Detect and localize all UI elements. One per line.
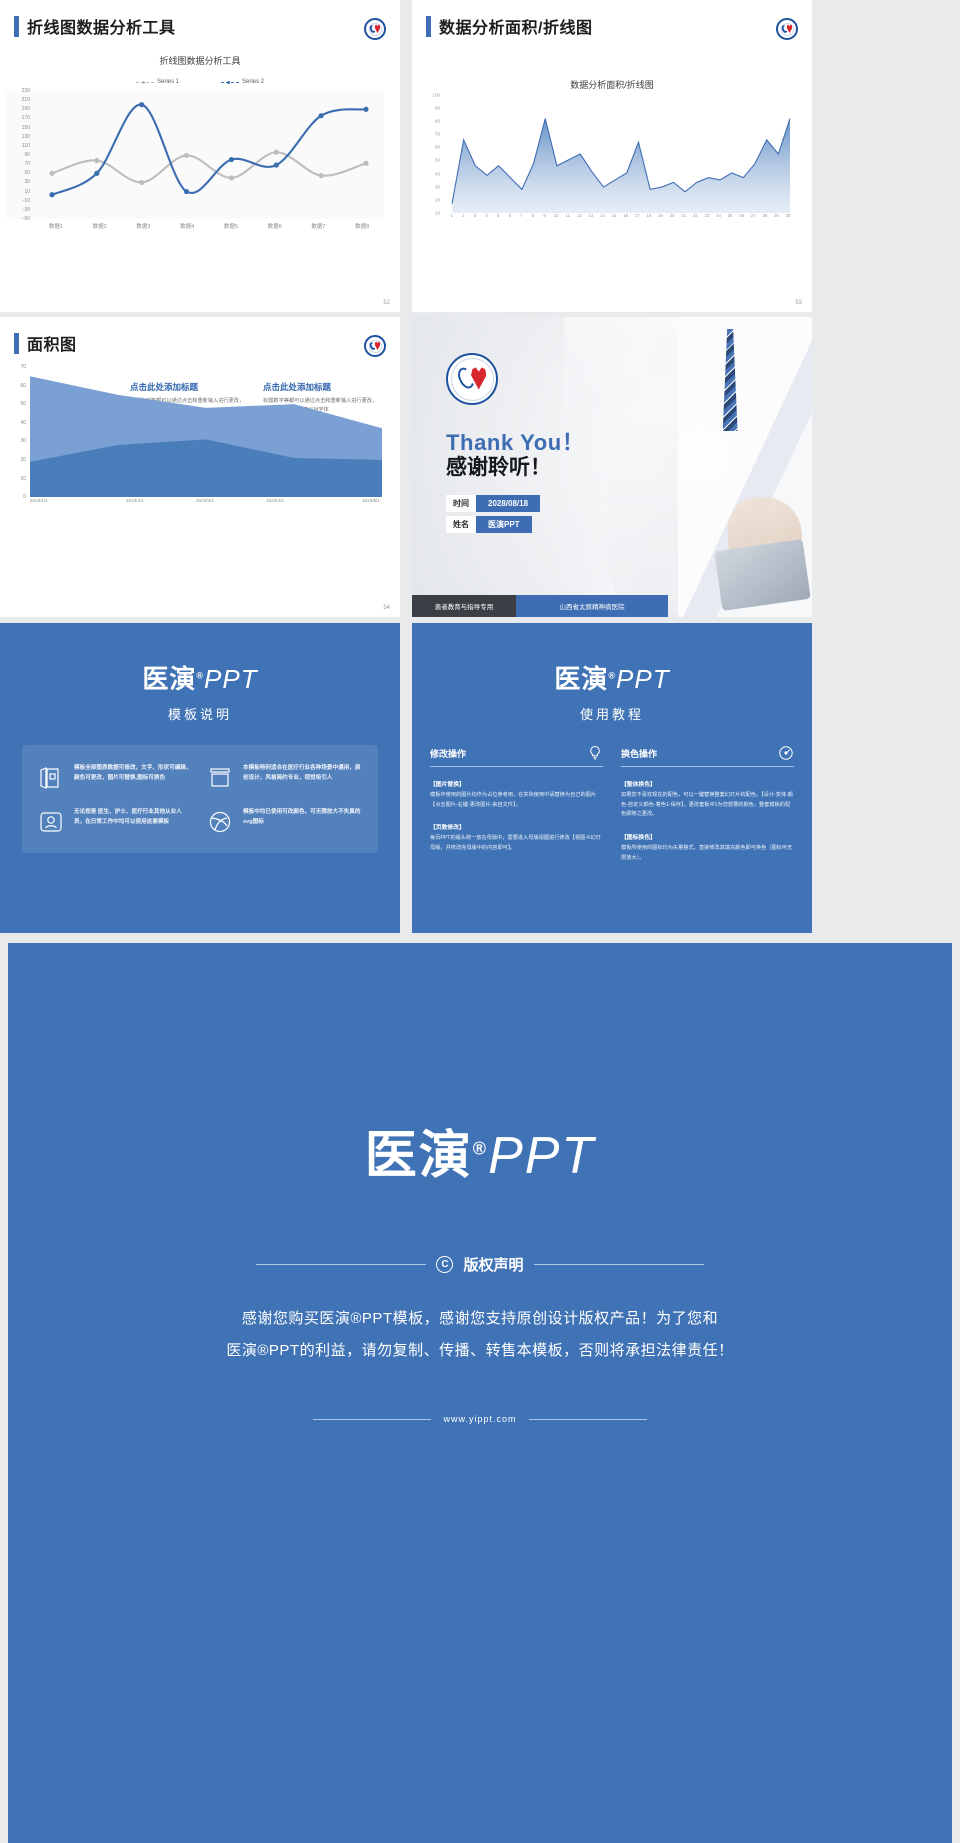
feature-text: 模板中均已使用可改颜色，可无限放大不失真的svg图标 bbox=[243, 807, 362, 835]
footer-label-left: 患者教育与指导专用 bbox=[412, 595, 516, 617]
website-url[interactable]: www.yippt.com bbox=[443, 1414, 516, 1424]
slide-area-chart[interactable]: 面积图 点击此处添加标题 标题数字等都可以通过点击和重新输入进行更改，顶部“开始… bbox=[0, 317, 400, 617]
x-axis-tick: 12 bbox=[574, 213, 586, 218]
legend-swatch-icon bbox=[136, 82, 154, 83]
x-axis-tick: 14 bbox=[597, 213, 609, 218]
y-axis-ticks: 70 60 50 40 30 20 10 0 bbox=[4, 367, 28, 497]
area-chart-plot-area: 70 60 50 40 30 20 10 0 2023/1/1 2023/2/1… bbox=[4, 367, 380, 503]
item-body: 模板所使用的图标均为矢量格式，直接修改其填充颜色即可换色（图标可无限放大）。 bbox=[621, 844, 794, 863]
meta-key: 时间 bbox=[446, 495, 476, 512]
left-margin bbox=[0, 943, 8, 1843]
legend-swatch-icon bbox=[221, 82, 239, 83]
x-axis-tick: 3 bbox=[469, 213, 481, 218]
x-axis-tick: 20 bbox=[666, 213, 678, 218]
divider bbox=[256, 1264, 426, 1265]
palette-icon bbox=[778, 745, 794, 761]
box-icon bbox=[207, 765, 233, 791]
x-axis-tick: 30 bbox=[782, 213, 794, 218]
copyright-title: 版权声明 bbox=[463, 1254, 523, 1275]
line-chart-svg bbox=[34, 91, 384, 219]
feature-list: 模板全部图表数据可修改，文字、形状可编辑，颜色可更改，图片可替换,图标可换色 本… bbox=[22, 745, 378, 853]
hospital-logo-icon bbox=[446, 353, 498, 405]
hospital-logo-icon bbox=[364, 18, 386, 40]
copyright-heading: C 版权声明 bbox=[0, 1254, 960, 1275]
area-line-plot-area: 100 90 80 70 60 50 40 30 20 10 123456789… bbox=[420, 95, 794, 218]
right-margin bbox=[952, 943, 960, 1843]
brand-logo-text: 医演®PPT bbox=[412, 659, 812, 696]
meta-key: 姓名 bbox=[446, 516, 476, 533]
meta-row-name: 姓名 医演PPT bbox=[446, 516, 540, 533]
legend-item-series-1: Series 1 bbox=[136, 79, 179, 85]
tutorial-column-modify: 修改操作 【图片替换】 模板中使用的图片均作为占位参考用，在实际使用中请替换为自… bbox=[430, 745, 603, 863]
x-axis-tick: 6 bbox=[504, 213, 516, 218]
footer-spacer bbox=[668, 595, 812, 617]
slides-row-2: 面积图 点击此处添加标题 标题数字等都可以通过点击和重新输入进行更改，顶部“开始… bbox=[0, 317, 960, 617]
tutorial-item: 【整体换色】 如果您不喜欢现在的配色，可以一键替换整套幻灯片的配色。【设计-变体… bbox=[621, 779, 794, 820]
x-axis-tick: 27 bbox=[747, 213, 759, 218]
divider bbox=[313, 1419, 431, 1420]
copyright-icon: C bbox=[436, 1256, 453, 1273]
website-row: www.yippt.com bbox=[0, 1414, 960, 1424]
slide-number: 52 bbox=[383, 300, 390, 306]
slide-line-chart[interactable]: 折线图数据分析工具 折线图数据分析工具 Series 1 Series 2 23… bbox=[0, 0, 400, 312]
x-axis-tick: 24 bbox=[713, 213, 725, 218]
chart-legend: Series 1 Series 2 bbox=[0, 79, 400, 85]
x-axis-tick: 19 bbox=[655, 213, 667, 218]
hospital-logo-icon bbox=[364, 335, 386, 357]
x-axis-tick: 15 bbox=[608, 213, 620, 218]
meta-value: 2028/08/18 bbox=[476, 495, 540, 512]
slide-header: 数据分析面积/折线图 bbox=[412, 0, 812, 38]
page-title: 折线图数据分析工具 bbox=[27, 14, 176, 38]
divider bbox=[534, 1264, 704, 1265]
legend-item-series-2: Series 2 bbox=[221, 79, 264, 85]
x-axis-tick: 28 bbox=[759, 213, 771, 218]
x-axis-tick: 10 bbox=[550, 213, 562, 218]
user-icon bbox=[38, 809, 64, 835]
item-title: 【页数修改】 bbox=[430, 822, 603, 831]
meta-value: 医演PPT bbox=[476, 516, 532, 533]
x-axis-tick: 22 bbox=[689, 213, 701, 218]
hospital-logo-icon bbox=[776, 18, 798, 40]
slides-row-1: 折线图数据分析工具 折线图数据分析工具 Series 1 Series 2 23… bbox=[0, 0, 960, 312]
section-subtitle: 模板说明 bbox=[0, 704, 400, 723]
copyright-line-2: 医演®PPT的利益，请勿复制、传播、转售本模板，否则将承担法律责任！ bbox=[0, 1335, 960, 1367]
slides-row-3: 医演®PPT 模板说明 模板全部图表数据可修改，文字、形状可编辑，颜色可更改，图… bbox=[0, 623, 960, 933]
x-axis-tick: 21 bbox=[678, 213, 690, 218]
feature-item: 模板中均已使用可改颜色，可无限放大不失真的svg图标 bbox=[207, 807, 362, 835]
x-axis-tick: 4 bbox=[481, 213, 493, 218]
item-title: 【图片替换】 bbox=[430, 779, 603, 788]
copyright-body: 感谢您购买医演®PPT模板，感谢您支持原创设计版权产品！为了您和 医演®PPT的… bbox=[0, 1303, 960, 1366]
chart-title: 数据分析面积/折线图 bbox=[412, 78, 812, 91]
title-accent-bar bbox=[14, 16, 19, 37]
copyright-line-1: 感谢您购买医演®PPT模板，感谢您支持原创设计版权产品！为了您和 bbox=[0, 1303, 960, 1335]
tutorial-column-recolor: 换色操作 【整体换色】 如果您不喜欢现在的配色，可以一键替换整套幻灯片的配色。【… bbox=[621, 745, 794, 863]
legend-label: Series 1 bbox=[157, 79, 179, 85]
footer-label-right: 山西省太原精神病医院 bbox=[516, 595, 668, 617]
meta-row-date: 时间 2028/08/18 bbox=[446, 495, 540, 512]
dribbble-icon bbox=[207, 809, 233, 835]
feature-item: 无论您是 医生、护士、医疗行业其他从业人员，在日常工作中均可以使用这套模板 bbox=[38, 807, 193, 835]
section-subtitle: 使用教程 bbox=[412, 704, 812, 723]
tutorial-columns: 修改操作 【图片替换】 模板中使用的图片均作为占位参考用，在实际使用中请替换为自… bbox=[430, 745, 794, 863]
x-axis-labels: 数据1 数据2 数据3 数据4 数据5 数据6 数据7 数据8 bbox=[34, 222, 384, 230]
line-chart-plot-area: 230 210 190 170 150 130 110 90 70 50 30 … bbox=[6, 91, 384, 230]
title-accent-bar bbox=[14, 333, 19, 354]
area-line-chart-svg bbox=[446, 95, 796, 213]
area-chart-svg bbox=[30, 367, 382, 497]
tutorial-item: 【图标换色】 模板所使用的图标均为矢量格式，直接修改其填充颜色即可换色（图标可无… bbox=[621, 832, 794, 863]
layers-icon bbox=[38, 765, 64, 791]
x-axis-tick: 5 bbox=[492, 213, 504, 218]
y-axis-ticks: 100 90 80 70 60 50 40 30 20 10 bbox=[420, 95, 442, 213]
slide-number: 54 bbox=[383, 605, 390, 611]
chart-title: 折线图数据分析工具 bbox=[0, 54, 400, 67]
feature-text: 本模板特别适合在医疗行业各种场景中通用，原创设计，风格简约专业，视觉吸引人 bbox=[243, 763, 362, 791]
bulb-icon bbox=[587, 745, 603, 761]
slide-tutorial-info[interactable]: 医演®PPT 使用教程 修改操作 【图片替换】 模板中使用的图片均作为占位参考用… bbox=[412, 623, 812, 933]
title-accent-bar bbox=[426, 16, 431, 37]
slide-thank-you[interactable]: Thank You！ 感谢聆听！ 时间 2028/08/18 姓名 医演PPT … bbox=[412, 317, 812, 617]
legend-label: Series 2 bbox=[242, 79, 264, 85]
item-title: 【整体换色】 bbox=[621, 779, 794, 788]
x-axis-tick: 18 bbox=[643, 213, 655, 218]
doctor-photo bbox=[564, 317, 812, 617]
feature-item: 本模板特别适合在医疗行业各种场景中通用，原创设计，风格简约专业，视觉吸引人 bbox=[207, 763, 362, 791]
slide-header: 面积图 bbox=[0, 317, 400, 355]
feature-text: 模板全部图表数据可修改，文字、形状可编辑，颜色可更改，图片可替换,图标可换色 bbox=[74, 763, 193, 791]
slide-copyright[interactable]: 医演®PPT C 版权声明 感谢您购买医演®PPT模板，感谢您支持原创设计版权产… bbox=[0, 943, 960, 1843]
item-title: 【图标换色】 bbox=[621, 832, 794, 841]
x-axis-tick: 8 bbox=[527, 213, 539, 218]
x-axis-tick: 9 bbox=[539, 213, 551, 218]
x-axis-tick: 13 bbox=[585, 213, 597, 218]
slide-template-info[interactable]: 医演®PPT 模板说明 模板全部图表数据可修改，文字、形状可编辑，颜色可更改，图… bbox=[0, 623, 400, 933]
x-axis-tick: 29 bbox=[771, 213, 783, 218]
slide-header: 折线图数据分析工具 bbox=[0, 0, 400, 38]
x-axis-labels: 2023/1/1 2023/2/1 2023/3/1 2023/4/1 2023… bbox=[30, 498, 380, 503]
item-body: 如果您不喜欢现在的配色，可以一键替换整套幻灯片的配色。【设计-变体-颜色-自定义… bbox=[621, 791, 794, 820]
thank-you-chinese: 感谢聆听！ bbox=[446, 451, 551, 481]
x-axis-tick: 26 bbox=[736, 213, 748, 218]
x-axis-tick: 7 bbox=[516, 213, 528, 218]
x-axis-tick: 17 bbox=[632, 213, 644, 218]
tutorial-item: 【图片替换】 模板中使用的图片均作为占位参考用，在实际使用中请替换为自己的图片【… bbox=[430, 779, 603, 810]
item-body: 每页PPT的版头统一放在母版中，需要进入母版视图进行修改【视图-K幻灯母版，并修… bbox=[430, 834, 603, 853]
x-axis-tick: 11 bbox=[562, 213, 574, 218]
x-axis-tick: 2 bbox=[458, 213, 470, 218]
x-axis-tick: 1 bbox=[446, 213, 458, 218]
thank-you-footer: 患者教育与指导专用 山西省太原精神病医院 bbox=[412, 595, 812, 617]
column-header: 换色操作 bbox=[621, 745, 794, 767]
feature-text: 无论您是 医生、护士、医疗行业其他从业人员，在日常工作中均可以使用这套模板 bbox=[74, 807, 193, 835]
column-title: 修改操作 bbox=[430, 747, 466, 760]
slide-number: 53 bbox=[795, 300, 802, 306]
column-title: 换色操作 bbox=[621, 747, 657, 760]
brand-block: 医演®PPT bbox=[0, 623, 400, 696]
tutorial-item: 【页数修改】 每页PPT的版头统一放在母版中，需要进入母版视图进行修改【视图-K… bbox=[430, 822, 603, 853]
slide-area-line-chart[interactable]: 数据分析面积/折线图 数据分析面积/折线图 100 90 80 70 60 50… bbox=[412, 0, 812, 312]
x-axis-labels: 1234567891011121314151617181920212223242… bbox=[446, 213, 794, 218]
x-axis-tick: 23 bbox=[701, 213, 713, 218]
feature-item: 模板全部图表数据可修改，文字、形状可编辑，颜色可更改，图片可替换,图标可换色 bbox=[38, 763, 193, 791]
brand-block: 医演®PPT bbox=[412, 623, 812, 696]
divider bbox=[529, 1419, 647, 1420]
brand-logo-text: 医演®PPT bbox=[0, 943, 960, 1188]
item-body: 模板中使用的图片均作为占位参考用，在实际使用中请替换为自己的图片【点击图片-右键… bbox=[430, 791, 603, 810]
x-axis-tick: 16 bbox=[620, 213, 632, 218]
column-header: 修改操作 bbox=[430, 745, 603, 767]
y-axis-ticks: 230 210 190 170 150 130 110 90 70 50 30 … bbox=[6, 91, 32, 219]
meta-rows: 时间 2028/08/18 姓名 医演PPT bbox=[446, 495, 540, 537]
page-title: 面积图 bbox=[27, 331, 77, 355]
x-axis-tick: 25 bbox=[724, 213, 736, 218]
page-title: 数据分析面积/折线图 bbox=[439, 14, 592, 38]
brand-logo-text: 医演®PPT bbox=[0, 659, 400, 696]
